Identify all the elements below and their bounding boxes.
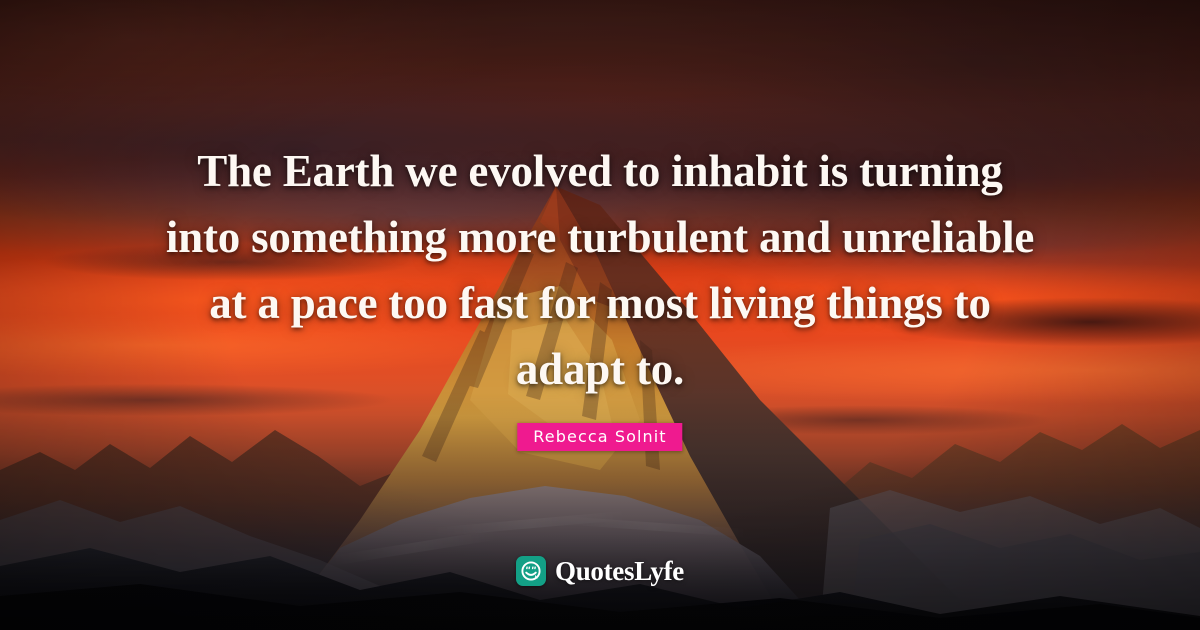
quote-line-4: adapt to. xyxy=(60,336,1140,402)
quote-text: The Earth we evolved to inhabit is turni… xyxy=(60,138,1140,402)
quote-line-2: into something more turbulent and unreli… xyxy=(60,204,1140,270)
author-name: Rebecca Solnit xyxy=(533,427,666,446)
quote-line-1: The Earth we evolved to inhabit is turni… xyxy=(60,138,1140,204)
brand-logo[interactable]: QuotesLyfe xyxy=(516,556,684,586)
author-badge[interactable]: Rebecca Solnit xyxy=(517,423,682,451)
quote-smiley-icon xyxy=(516,556,546,586)
quote-line-3: at a pace too fast for most living thing… xyxy=(60,270,1140,336)
quote-card: The Earth we evolved to inhabit is turni… xyxy=(0,0,1200,630)
brand-name: QuotesLyfe xyxy=(555,556,684,586)
quote-content: The Earth we evolved to inhabit is turni… xyxy=(0,0,1200,630)
